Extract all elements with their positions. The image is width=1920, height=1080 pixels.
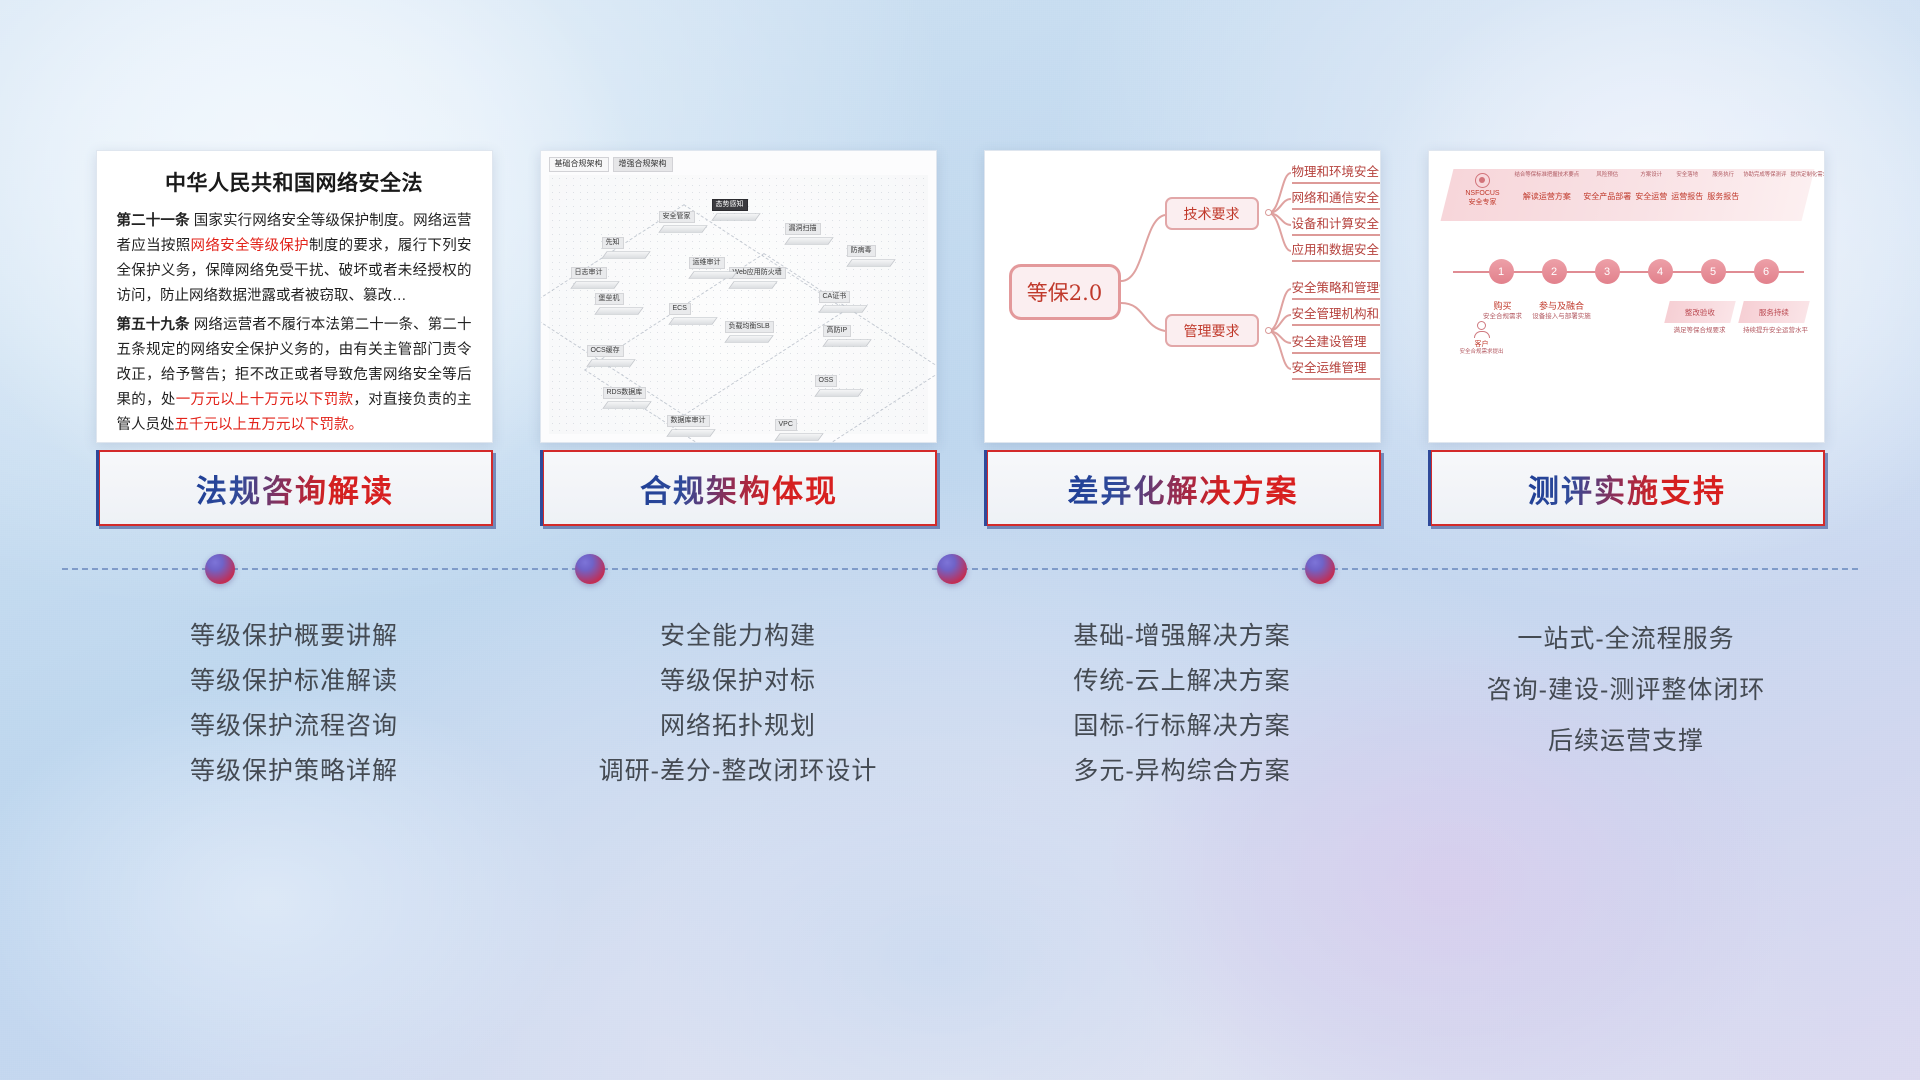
nsfocus-customer-sub: 安全合规需求提出 <box>1453 349 1511 356</box>
card-compliance-architecture: 基础合规架构 增强合规架构 态势感知 先知 安全管家 <box>540 150 937 443</box>
mindmap-leaf-network-communication: 网络和通信安全 <box>1292 187 1381 210</box>
card-mindmap-dengbao: 等保2.0 技术要求 管理要求 物理和环境安全 网络和通信安全 设备和计算安全 … <box>984 150 1381 443</box>
arch-node-vuln-scan: 漏洞扫描 <box>787 235 831 247</box>
arch-node-label: ECS <box>669 303 691 315</box>
arch-node-label: 数据库审计 <box>667 415 710 427</box>
nsfocus-header-top: 服务执行 <box>1707 172 1739 179</box>
architecture-tab-basic[interactable]: 基础合规架构 <box>549 157 609 172</box>
nsfocus-buy-sub: 安全合规需求 <box>1477 313 1529 321</box>
arch-node-label: 防病毒 <box>847 245 876 257</box>
list-item: 多元-异构综合方案 <box>984 749 1381 794</box>
law-article-59-highlight-2: 五千元以上五万元以下罚款。 <box>175 417 364 433</box>
list-item: 国标-行标解决方案 <box>984 704 1381 749</box>
list-item: 等级保护对标 <box>540 659 937 704</box>
nsfocus-header-bottom: 解读运营方案 <box>1515 191 1580 202</box>
nsfocus-header-col: 提供定制化需求与增值服务 <box>1790 172 1824 202</box>
arch-node-label: OCS缓存 <box>587 345 624 357</box>
nsfocus-result-chip-acceptance: 整改验收 <box>1664 301 1735 323</box>
arch-node-label: 先知 <box>602 237 624 249</box>
nsfocus-customer-block: 客户 安全合规需求提出 <box>1453 321 1511 356</box>
nsfocus-header-columns: 结合等保标准把握技术要点 解读运营方案 风险预估 安全产品部署 方案设计 安全运… <box>1515 172 1804 202</box>
arch-node-label: VPC <box>775 419 797 431</box>
title-box-regulation-consulting[interactable]: 法规咨询解读 <box>96 450 493 526</box>
nsfocus-header-bottom: 安全运营 <box>1635 191 1667 202</box>
arch-node-oss: OSS <box>817 387 861 399</box>
card-cybersecurity-law: 中华人民共和国网络安全法 第二十一条 国家实行网络安全等级保护制度。网络运营者应… <box>96 150 493 443</box>
media-card-row: 中华人民共和国网络安全法 第二十一条 国家实行网络安全等级保护制度。网络运营者应… <box>0 150 1920 455</box>
arch-node-db-audit: 数据库审计 <box>669 427 713 439</box>
nsfocus-expert-badge: NSFOCUS 安全专家 <box>1455 173 1511 208</box>
timeline-node-1[interactable] <box>205 554 235 584</box>
arch-node-chip <box>724 335 773 342</box>
list-item: 等级保护概要讲解 <box>96 614 493 659</box>
arch-node-chip <box>586 359 635 366</box>
arch-node-label: 态势感知 <box>712 199 748 211</box>
arch-node-label: Web应用防火墙 <box>729 267 786 279</box>
nsfocus-chip-title: 整改验收 <box>1685 307 1715 318</box>
arch-node-chip <box>846 259 895 266</box>
architecture-tab-enhanced[interactable]: 增强合规架构 <box>613 157 673 172</box>
title-box-assessment-support[interactable]: 测评实施支持 <box>1428 450 1825 526</box>
arch-node-security-butler: 安全管家 <box>661 223 705 235</box>
arch-node-ops-audit: 运维审计 <box>691 269 735 281</box>
nsfocus-header-bottom: 服务报告 <box>1707 191 1739 202</box>
arch-node-chip <box>728 281 777 288</box>
feature-list-regulation-consulting: 等级保护概要讲解 等级保护标准解读 等级保护流程咨询 等级保护策略详解 <box>96 600 493 860</box>
timeline-node-3[interactable] <box>937 554 967 584</box>
nsfocus-banner-content: NSFOCUS 安全专家 结合等保标准把握技术要点 解读运营方案 风险预估 安全… <box>1447 169 1808 221</box>
feature-list-assessment-support: 一站式-全流程服务 咨询-建设-测评整体闭环 后续运营支撑 <box>1428 600 1825 860</box>
nsfocus-step-6: 6 <box>1754 259 1779 284</box>
nsfocus-header-col: 风险预估 安全产品部署 <box>1583 172 1631 202</box>
mindmap-branch-technical: 技术要求 <box>1165 197 1259 230</box>
arch-node-chip <box>814 389 863 396</box>
architecture-canvas: 态势感知 先知 安全管家 日志审计 堡垒机 <box>549 175 928 434</box>
nsfocus-caption-join: 参与及融合 设备接入与部署实施 <box>1529 301 1595 321</box>
arch-node-slb: 负载均衡SLB <box>727 333 771 345</box>
law-article-21: 第二十一条 国家实行网络安全等级保护制度。网络运营者应当按照网络安全等级保护制度… <box>117 209 472 309</box>
title-text: 差异化解决方案 <box>1068 466 1299 511</box>
nsfocus-step-5: 5 <box>1701 259 1726 284</box>
nsfocus-header-col: 服务执行 服务报告 <box>1707 172 1739 202</box>
expert-avatar-icon <box>1475 173 1490 188</box>
nsfocus-header-col: 安全落地 运营报告 <box>1671 172 1703 202</box>
mindmap-expand-dot-technical[interactable] <box>1265 209 1272 216</box>
arch-node-bastion: 堡垒机 <box>597 305 641 317</box>
nsfocus-step-2: 2 <box>1542 259 1567 284</box>
arch-node-xianzhi: 先知 <box>604 249 648 261</box>
arch-node-ecs: ECS <box>671 315 715 327</box>
arch-node-chip <box>711 213 760 220</box>
nsfocus-join-sub: 设备接入与部署实施 <box>1529 313 1595 321</box>
title-box-row: 法规咨询解读 合规架构体现 差异化解决方案 测评实施支持 <box>0 450 1920 530</box>
arch-node-label: 负载均衡SLB <box>725 321 774 333</box>
mindmap-leaf-application-data: 应用和数据安全 <box>1292 239 1381 262</box>
arch-node-chip <box>658 225 707 232</box>
arch-node-label: 堡垒机 <box>595 293 624 305</box>
list-item: 网络拓扑规划 <box>540 704 937 749</box>
arch-node-label: 高防IP <box>823 325 852 337</box>
nsfocus-step-1: 1 <box>1489 259 1514 284</box>
architecture-tab-group[interactable]: 基础合规架构 增强合规架构 <box>549 157 673 172</box>
nsfocus-caption-buy: 购买 安全合规需求 <box>1477 301 1529 321</box>
mindmap-leaf-construction-management: 安全建设管理 <box>1292 331 1381 354</box>
nsfocus-header-top: 安全落地 <box>1671 172 1703 179</box>
feature-list-compliance-architecture: 安全能力构建 等级保护对标 网络拓扑规划 调研-差分-整改闭环设计 <box>540 600 937 860</box>
customer-avatar-body-icon <box>1474 331 1490 338</box>
arch-node-situational-awareness-top: 态势感知 <box>714 211 758 223</box>
title-text: 合规架构体现 <box>640 466 838 511</box>
feature-list-differentiated-solution: 基础-增强解决方案 传统-云上解决方案 国标-行标解决方案 多元-异构综合方案 <box>984 600 1381 860</box>
law-article-21-label: 第二十一条 <box>117 213 190 229</box>
arch-node-chip <box>784 237 833 244</box>
nsfocus-step-3: 3 <box>1595 259 1620 284</box>
arch-node-chip <box>688 271 737 278</box>
arch-node-chip <box>601 251 650 258</box>
nsfocus-header-top: 风险预估 <box>1583 172 1631 179</box>
arch-node-chip <box>594 307 643 314</box>
law-title: 中华人民共和国网络安全法 <box>117 167 472 197</box>
law-article-59: 第五十九条 网络运营者不履行本法第二十一条、第二十五条规定的网络安全保护义务的，… <box>117 313 472 438</box>
nsfocus-result-sub-acceptance: 满足等保合规要求 <box>1661 327 1739 335</box>
arch-node-antivirus: 防病毒 <box>849 257 893 269</box>
title-text: 测评实施支持 <box>1528 466 1726 511</box>
mindmap-expand-dot-management[interactable] <box>1265 327 1272 334</box>
arch-node-label: CA证书 <box>819 291 851 303</box>
nsfocus-header-col: 方案设计 安全运营 <box>1635 172 1667 202</box>
customer-avatar-icon <box>1477 321 1486 330</box>
arch-node-label: RDS数据库 <box>603 387 647 399</box>
list-item: 咨询-建设-测评整体闭环 <box>1428 665 1825 716</box>
nsfocus-header-bottom: 运营报告 <box>1671 191 1703 202</box>
arch-node-chip <box>774 433 823 440</box>
arch-node-high-defense-ip: 高防IP <box>825 337 869 349</box>
arch-node-chip <box>666 429 715 436</box>
title-box-compliance-architecture[interactable]: 合规架构体现 <box>540 450 937 526</box>
list-item: 等级保护流程咨询 <box>96 704 493 749</box>
nsfocus-header-bottom: 安全产品部署 <box>1583 191 1631 202</box>
arch-node-chip <box>602 401 651 408</box>
arch-node-label: OSS <box>815 375 838 387</box>
nsfocus-result-sub-service: 持续提升安全运营水平 <box>1735 327 1817 335</box>
list-item: 安全能力构建 <box>540 614 937 659</box>
mindmap-leaf-operations-management: 安全运维管理 <box>1292 357 1381 380</box>
law-article-21-highlight: 网络安全等级保护 <box>191 238 309 254</box>
mindmap-branch-management: 管理要求 <box>1165 314 1259 347</box>
arch-node-rds: RDS数据库 <box>605 399 649 411</box>
mindmap-leaf-security-org-personnel: 安全管理机构和人员 <box>1292 303 1381 326</box>
list-item: 后续运营支撑 <box>1428 716 1825 767</box>
arch-node-label: 安全管家 <box>659 211 695 223</box>
nsfocus-header-col: 结合等保标准把握技术要点 解读运营方案 <box>1515 172 1580 202</box>
arch-node-ca: CA证书 <box>821 303 865 315</box>
mindmap-leaf-device-computing: 设备和计算安全 <box>1292 213 1381 236</box>
nsfocus-header-top: 协助完成等保测评 <box>1743 172 1786 179</box>
timeline-node-2[interactable] <box>575 554 605 584</box>
arch-node-chip <box>668 317 717 324</box>
list-item: 基础-增强解决方案 <box>984 614 1381 659</box>
feature-list-row: 等级保护概要讲解 等级保护标准解读 等级保护流程咨询 等级保护策略详解 安全能力… <box>0 600 1920 860</box>
nsfocus-header-col: 协助完成等保测评 <box>1743 172 1786 202</box>
law-article-59-highlight-1: 一万元以上十万元以下罚款 <box>176 392 354 408</box>
title-box-differentiated-solution[interactable]: 差异化解决方案 <box>984 450 1381 526</box>
nsfocus-brand-sub: 安全专家 <box>1455 199 1511 208</box>
nsfocus-chip-title: 服务持续 <box>1759 307 1789 318</box>
nsfocus-header-top: 提供定制化需求与增值服务 <box>1790 172 1824 179</box>
list-item: 等级保护策略详解 <box>96 749 493 794</box>
arch-node-label: 漏洞扫描 <box>785 223 821 235</box>
law-article-59-label: 第五十九条 <box>117 317 190 333</box>
arch-node-vpc: VPC <box>777 431 821 443</box>
list-item: 调研-差分-整改闭环设计 <box>540 749 937 794</box>
nsfocus-join-label: 参与及融合 <box>1529 301 1595 313</box>
arch-node-situational-awareness: 日志审计 <box>573 279 617 291</box>
arch-node-waf: Web应用防火墙 <box>731 279 775 291</box>
arch-node-label: 运维审计 <box>689 257 725 269</box>
arch-node-chip <box>818 305 867 312</box>
list-item: 等级保护标准解读 <box>96 659 493 704</box>
nsfocus-buy-label: 购买 <box>1477 301 1529 313</box>
arch-node-chip <box>570 281 619 288</box>
nsfocus-step-4: 4 <box>1648 259 1673 284</box>
nsfocus-customer-label: 客户 <box>1453 340 1511 349</box>
card-nsfocus-roadmap: NSFOCUS 安全专家 结合等保标准把握技术要点 解读运营方案 风险预估 安全… <box>1428 150 1825 443</box>
list-item: 传统-云上解决方案 <box>984 659 1381 704</box>
arch-node-label: 日志审计 <box>571 267 607 279</box>
timeline-node-4[interactable] <box>1305 554 1335 584</box>
nsfocus-header-top: 结合等保标准把握技术要点 <box>1515 172 1580 179</box>
mindmap-leaf-security-policy: 安全策略和管理制度 <box>1292 277 1381 300</box>
list-item: 一站式-全流程服务 <box>1428 614 1825 665</box>
nsfocus-brand: NSFOCUS <box>1455 190 1511 199</box>
arch-node-chip <box>822 339 871 346</box>
nsfocus-header-top: 方案设计 <box>1635 172 1667 179</box>
nsfocus-result-chip-service: 服务持续 <box>1738 301 1809 323</box>
mindmap-leaf-physical-environment: 物理和环境安全 <box>1292 161 1381 184</box>
title-text: 法规咨询解读 <box>196 466 394 511</box>
arch-node-ocs-cache: OCS缓存 <box>589 357 633 369</box>
slide-root: 中华人民共和国网络安全法 第二十一条 国家实行网络安全等级保护制度。网络运营者应… <box>0 0 1920 1080</box>
